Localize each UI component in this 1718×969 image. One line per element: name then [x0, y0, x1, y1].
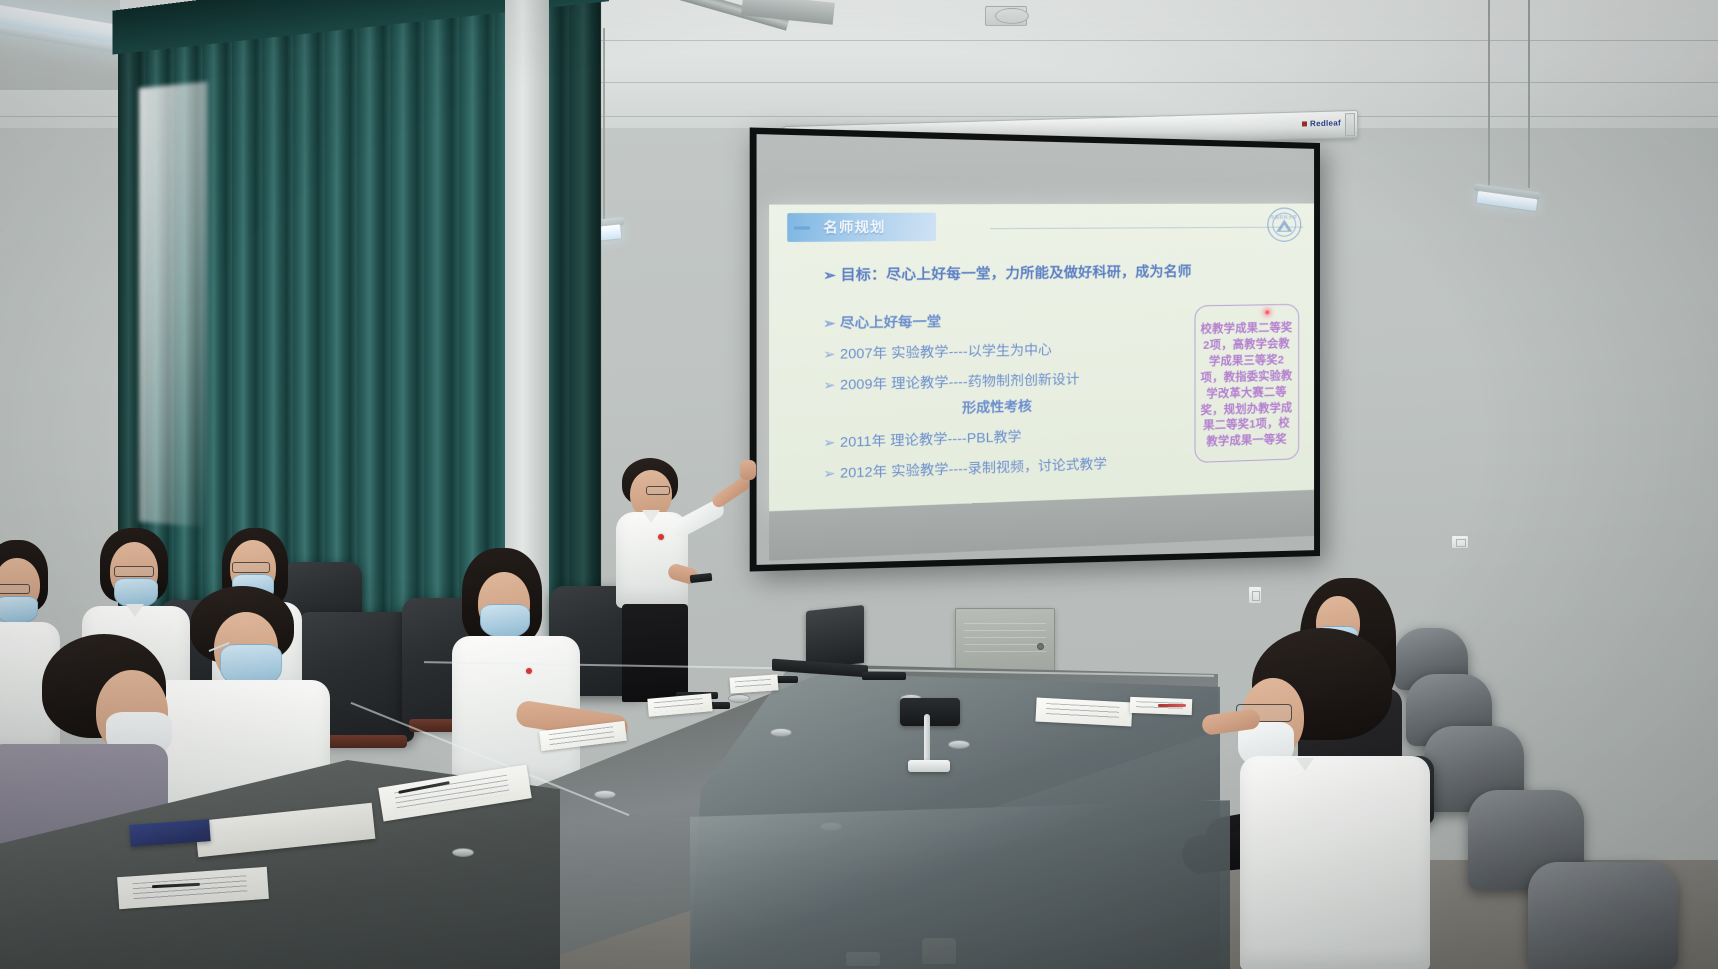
party-badge: [658, 534, 664, 540]
title-dash-icon: [793, 226, 809, 229]
remote-control[interactable]: [862, 672, 906, 680]
printed-handout[interactable]: [730, 674, 779, 693]
glasses-icon: [0, 584, 30, 594]
shirt-collar: [126, 604, 144, 617]
party-badge: [526, 668, 532, 674]
emblem-triangle-icon: [1275, 220, 1291, 232]
cabinet-latch-icon[interactable]: [1037, 643, 1044, 650]
table-cable-grommet: [948, 740, 970, 749]
microphone-stem: [924, 714, 930, 766]
pointing-hand: [740, 460, 756, 480]
table-cable-grommet: [770, 728, 792, 737]
list-item-label: 2009年 理论教学----药物制剂创新设计: [839, 371, 1079, 393]
wall-power-outlet[interactable]: [1248, 586, 1262, 604]
housing-endcap: [1345, 113, 1355, 136]
screenshot-root: Redleaf 名师规划 中国药科大学: [0, 0, 1718, 969]
list-item-label: 2011年 理论教学----PBL教学: [839, 429, 1021, 450]
screen-surface: 名师规划 中国药科大学 ➢ 目标：尽心上好每一堂，力所能及做好科研，成为名师 ➢…: [757, 134, 1315, 565]
slide-title: 名师规划: [823, 219, 885, 235]
wall-pillar: [505, 0, 549, 640]
shirt-collar: [642, 510, 660, 523]
table-cable-grommet: [452, 848, 474, 857]
ceiling-speaker: [995, 8, 1029, 24]
face-mask: [480, 604, 530, 638]
glasses-icon: [232, 562, 270, 573]
bullet-arrow-icon: ➢: [823, 434, 840, 452]
skirt: [622, 604, 688, 702]
microphone-foot: [908, 760, 950, 772]
face-mask: [0, 596, 38, 624]
conference-table-front-edge: [690, 800, 1230, 969]
slide-title-band: 名师规划: [787, 213, 936, 242]
list-item-label: 2012年 实验教学----录制视频，讨论式教学: [839, 456, 1106, 481]
table-cable-grommet: [728, 694, 750, 703]
awards-callout-box: 校教学成果二等奖2项，高教学会教学成果三等奖2项，教指委实验教学改革大赛二等奖，…: [1193, 304, 1298, 463]
window-daylight-glare: [139, 82, 208, 528]
university-emblem-icon: 中国药科大学: [1266, 208, 1300, 242]
slide-content: 名师规划 中国药科大学 ➢ 目标：尽心上好每一堂，力所能及做好科研，成为名师 ➢…: [768, 204, 1314, 515]
pendant-rod: [1528, 0, 1530, 188]
slide-goal-line: ➢ 目标：尽心上好每一堂，力所能及做好科研，成为名师: [823, 259, 1304, 285]
printed-handout[interactable]: [1035, 698, 1132, 727]
emblem-arc-text: 中国药科大学: [1270, 215, 1297, 221]
presenter-laptop-lid[interactable]: [806, 605, 864, 669]
conference-chair[interactable]: [1528, 862, 1678, 969]
cabinet-vent: [964, 623, 1046, 658]
bullet-arrow-icon: ➢: [823, 465, 840, 483]
shirt-collar: [1296, 758, 1314, 771]
glasses-icon: [646, 486, 670, 495]
slide-title-rule: [990, 227, 1303, 230]
projected-slide: 名师规划 中国药科大学 ➢ 目标：尽心上好每一堂，力所能及做好科研，成为名师 ➢…: [768, 204, 1314, 515]
desk-microphone[interactable]: [900, 698, 960, 726]
wall-light-switch[interactable]: [1451, 535, 1469, 549]
bullet-arrow-icon: ➢: [823, 377, 840, 394]
emblem-inner-triangle-icon: [1279, 224, 1287, 230]
torso: [1240, 756, 1430, 969]
screen-brand-label: Redleaf: [1302, 118, 1341, 128]
list-item-label: 尽心上好每一堂: [839, 314, 940, 332]
list-item-label: 2007年 实验教学----以学生为中心: [839, 342, 1051, 362]
pendant-rod: [1488, 0, 1490, 200]
bullet-arrow-icon: ➢: [823, 346, 840, 363]
table-cable-grommet: [594, 790, 616, 799]
pen[interactable]: [1158, 704, 1186, 707]
glasses-icon: [114, 566, 154, 577]
bullet-arrow-icon: ➢: [823, 315, 840, 332]
pendant-rod: [603, 28, 605, 228]
pull-down-projection-screen[interactable]: 名师规划 中国药科大学 ➢ 目标：尽心上好每一堂，力所能及做好科研，成为名师 ➢…: [750, 127, 1320, 571]
